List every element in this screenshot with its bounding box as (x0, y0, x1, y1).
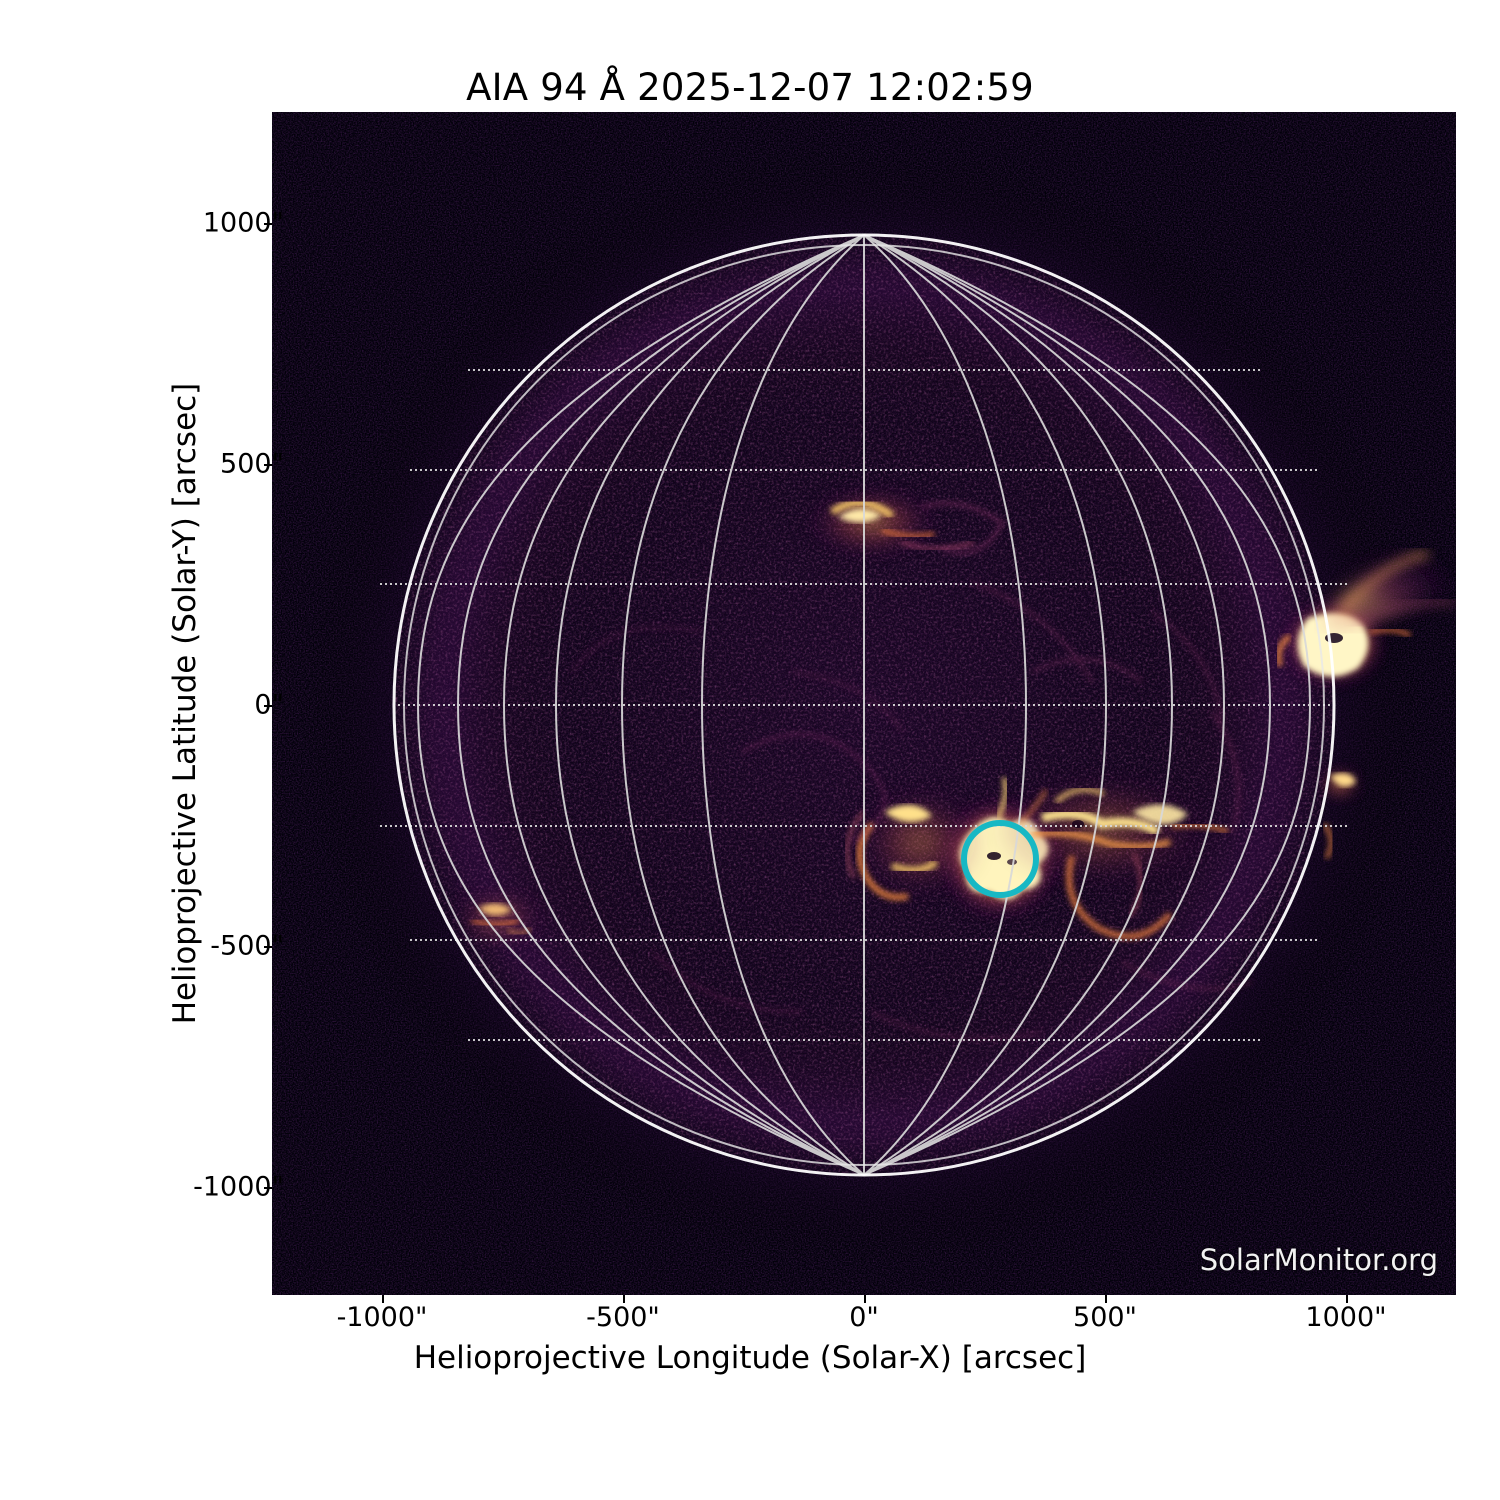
y-tick-label: -500" (210, 931, 284, 962)
y-tick-label: -1000" (193, 1172, 284, 1203)
x-axis-label: Helioprojective Longitude (Solar-X) [arc… (0, 1340, 1500, 1376)
y-tick-label: 1000" (203, 208, 284, 239)
x-tick-label: 500" (1073, 1302, 1137, 1333)
y-axis-label: Helioprojective Latitude (Solar-Y) [arcs… (165, 112, 205, 1295)
watermark-label: SolarMonitor.org (1200, 1243, 1438, 1277)
page-title: AIA 94 Å 2025-12-07 12:02:59 (0, 66, 1500, 109)
x-tick-label: 1000" (1305, 1302, 1386, 1333)
x-tick-label: 0" (849, 1302, 879, 1333)
y-tick-label: 0" (254, 690, 284, 721)
y-tick-label: 500" (220, 449, 284, 480)
x-tick-label: -1000" (337, 1302, 428, 1333)
x-tick-label: -500" (586, 1302, 660, 1333)
solar-image-plot-area[interactable]: SolarMonitor.org (272, 112, 1456, 1295)
active-region-southeast (456, 892, 540, 944)
solar-image-figure: AIA 94 Å 2025-12-07 12:02:59 (0, 0, 1500, 1500)
aia-94-image (272, 112, 1456, 1295)
